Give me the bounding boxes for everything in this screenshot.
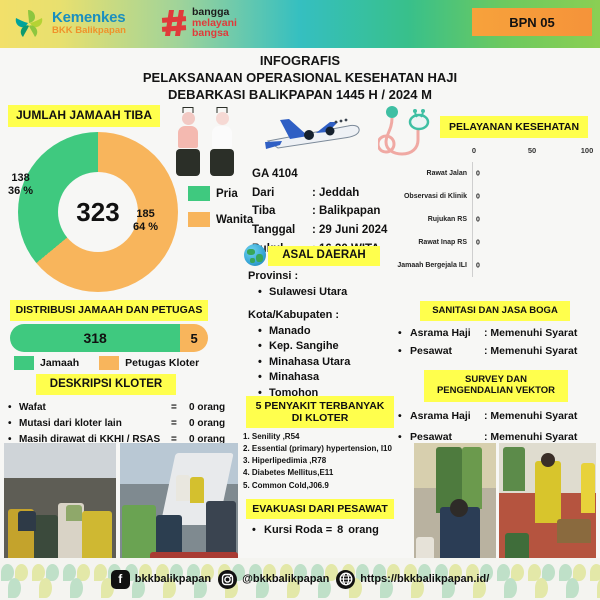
penyakit-heading-line1: 5 PENYAKIT TERBANYAK (256, 400, 385, 412)
list-item: 5. Common Cold,J06.9 (243, 480, 418, 492)
legend-swatch-jamaah (14, 356, 34, 370)
airplane-icon (256, 108, 364, 160)
bangga-line3: bangsa (192, 28, 237, 39)
globe-icon[interactable] (336, 570, 355, 589)
chart-plot-area: 0 (472, 208, 593, 231)
chart-row: Rawat Jalan 0 (388, 162, 593, 185)
survey-vektor-heading: SURVEY DAN PENGENDALIAN VEKTOR (424, 370, 568, 402)
page-title: INFOGRAFIS PELAKSANAAN OPERASIONAL KESEH… (0, 52, 600, 103)
website-url: https://bkkbalikpapan.id/ (360, 573, 489, 585)
photo-hall-interior (414, 443, 496, 561)
deskripsi-value-wafat: 0 orang (189, 400, 225, 416)
traveler-head (216, 112, 229, 125)
evakuasi-unit: orang (348, 524, 379, 536)
chart-category-rawat-inap-rs: Rawat Inap RS (388, 239, 472, 246)
list-item: 4. Diabetes Mellitus,E11 (243, 467, 418, 479)
survey-key-asrama: Asrama Haji (410, 406, 484, 427)
distribusi-jamaah-segment: 318 (10, 324, 180, 352)
provinsi-label: Provinsi : (248, 268, 350, 285)
photo-aircraft-stairs (120, 443, 238, 561)
list-item: Asrama Haji : Memenuhi Syarat (398, 325, 577, 343)
penyakit-heading-line2: DI KLOTER (292, 412, 349, 424)
pria-value: 138 (8, 172, 33, 185)
chart-category-rujukan-rs: Rujukan RS (388, 216, 472, 223)
chart-rows: Rawat Jalan 0 Observasi di Klinik 0 Ruju… (388, 162, 593, 277)
chart-plot-area: 0 (472, 162, 593, 185)
pelayanan-kesehatan-heading: PELAYANAN KESEHATAN (440, 116, 588, 138)
bullet-icon: • (8, 400, 19, 416)
list-item: 1. Senility ,R54 (243, 431, 418, 443)
sanitasi-value-pesawat: : Memenuhi Syarat (484, 343, 577, 361)
asal-daerah-content: Provinsi : Sulawesi Utara Kota/Kabupaten… (248, 268, 350, 417)
traveler-figure-1 (176, 112, 200, 176)
list-item: 3. Hiperlipedimia ,R78 (243, 455, 418, 467)
jumlah-jamaah-heading: JUMLAH JAMAAH TIBA (8, 105, 160, 127)
flight-value-tiba: : Balikpapan (312, 202, 380, 221)
deskripsi-kloter-heading: DESKRIPSI KLOTER (36, 374, 176, 395)
legend-label-petugas: Petugas Kloter (125, 357, 199, 369)
flight-info: GA 4104 Dari : Jeddah Tiba : Balikpapan … (252, 165, 387, 258)
kota-label: Kota/Kabupaten : (248, 307, 350, 324)
legend-swatch-petugas (99, 356, 119, 370)
bangga-wordmark: bangga melayani bangsa (192, 7, 237, 39)
flight-code-row: GA 4104 (252, 165, 387, 184)
chart-category-rawat-jalan: Rawat Jalan (388, 170, 472, 177)
list-item: 2. Essential (primary) hypertension, I10 (243, 443, 418, 455)
traveler-figure-2 (210, 112, 234, 176)
facebook-handle: bkkbalikpapan (135, 573, 211, 585)
bullet-icon: • (252, 524, 264, 536)
deskripsi-name-mutasi: Mutasi dari kloter lain (19, 416, 171, 432)
list-item: • Wafat = 0 orang (8, 400, 225, 416)
donut-legend: Pria Wanita (188, 186, 253, 238)
legend-item-wanita: Wanita (188, 212, 253, 227)
provinsi-list: Sulawesi Utara (258, 285, 350, 301)
chart-row: Jamaah Bergejala ILI 0 (388, 254, 593, 277)
list-item: • Mutasi dari kloter lain = 0 orang (8, 416, 225, 432)
chart-plot-area: 0 (472, 231, 593, 254)
footer-social-links: f bkkbalikpapan @bkkbalikpapan https://b… (0, 558, 600, 600)
wanita-percent: 64 % (133, 221, 158, 234)
evakuasi-heading: EVAKUASI DARI PESAWAT (246, 499, 394, 519)
sanitasi-content: Asrama Haji : Memenuhi Syarat Pesawat : … (398, 325, 577, 361)
instagram-icon[interactable] (218, 570, 237, 589)
penyakit-heading: 5 PENYAKIT TERBANYAK DI KLOTER (246, 396, 394, 428)
xtick-50: 50 (528, 146, 536, 155)
title-line-3: DEBARKASI BALIKPAPAN 1445 H / 2024 M (0, 86, 600, 103)
traveler-head (182, 112, 195, 125)
travelers-illustration (172, 104, 252, 176)
title-line-1: INFOGRAFIS (0, 52, 600, 69)
kemenkes-logo: Kemenkes BKK Balikpapan (12, 6, 126, 40)
list-item: Minahasa (258, 370, 350, 386)
flight-key-dari: Dari (252, 184, 312, 203)
flight-code: GA 4104 (252, 165, 312, 184)
flight-value-tanggal: : 29 Juni 2024 (312, 221, 387, 240)
chart-plot-area: 0 (472, 254, 593, 277)
kemenkes-title: Kemenkes (52, 10, 126, 26)
flight-code-badge: BPN 05 (472, 8, 592, 36)
list-item: Kep. Sangihe (258, 339, 350, 355)
globe-icon (244, 244, 266, 266)
instagram-handle: @bkkbalikpapan (242, 573, 329, 585)
kemenkes-wordmark: Kemenkes BKK Balikpapan (52, 10, 126, 36)
sanitasi-value-asrama: : Memenuhi Syarat (484, 325, 577, 343)
chart-x-axis: 0 50 100 (388, 146, 593, 160)
traveler-body (178, 126, 198, 148)
hashtag-icon (160, 8, 188, 38)
flight-row-tanggal: Tanggal : 29 Juni 2024 (252, 221, 387, 240)
photo-briefing-room (499, 443, 596, 561)
chart-value-rawat-inap-rs: 0 (476, 239, 480, 246)
sanitasi-key-pesawat: Pesawat (410, 343, 484, 361)
flight-row-tiba: Tiba : Balikpapan (252, 202, 387, 221)
sanitasi-heading: SANITASI DAN JASA BOGA (420, 301, 570, 321)
distribusi-heading: DISTRIBUSI JAMAAH DAN PETUGAS (10, 300, 208, 321)
penyakit-list: 1. Senility ,R54 2. Essential (primary) … (243, 431, 418, 492)
traveler-body (212, 126, 232, 148)
page-header: Kemenkes BKK Balikpapan bangga melayani … (0, 0, 600, 48)
asal-daerah-heading: ASAL DAERAH (268, 246, 380, 266)
xtick-100: 100 (581, 146, 594, 155)
chart-value-rujukan-rs: 0 (476, 216, 480, 223)
survey-vektor-content: Asrama Haji : Memenuhi Syarat Pesawat : … (398, 406, 577, 448)
chart-value-observasi-klinik: 0 (476, 193, 480, 200)
donut-label-pria: 138 36 % (8, 172, 33, 198)
legend-swatch-pria (188, 186, 210, 201)
chart-row: Rujukan RS 0 (388, 208, 593, 231)
flight-value-dari: : Jeddah (312, 184, 359, 203)
distribusi-legend: Jamaah Petugas Kloter (14, 356, 214, 370)
suitcase-icon (176, 149, 200, 176)
facebook-link[interactable]: f bkkbalikpapan (111, 570, 211, 589)
wanita-value: 185 (133, 208, 158, 221)
kemenkes-subtitle: BKK Balikpapan (52, 26, 126, 36)
chart-category-jamaah-bergejala-ili: Jamaah Bergejala ILI (388, 262, 472, 269)
evakuasi-value: 8 (337, 524, 343, 536)
pria-percent: 36 % (8, 185, 33, 198)
distribusi-petugas-segment: 5 (180, 324, 208, 352)
infographic-page: Kemenkes BKK Balikpapan bangga melayani … (0, 0, 600, 600)
evakuasi-label: Kursi Roda = (264, 524, 332, 536)
chart-plot-area: 0 (472, 185, 593, 208)
chart-value-jamaah-bergejala-ili: 0 (476, 262, 480, 269)
page-footer: f bkkbalikpapan @bkkbalikpapan https://b… (0, 558, 600, 600)
distribusi-bar-chart: 318 5 (10, 324, 208, 352)
evakuasi-content: • Kursi Roda = 8 orang (252, 524, 379, 536)
survey-heading-line2: PENGENDALIAN VEKTOR (437, 386, 555, 397)
chart-row: Rawat Inap RS 0 (388, 231, 593, 254)
donut-label-wanita: 185 64 % (133, 208, 158, 234)
chart-row: Observasi di Klinik 0 (388, 185, 593, 208)
survey-value-asrama: : Memenuhi Syarat (484, 406, 577, 427)
legend-swatch-wanita (188, 212, 210, 227)
chart-value-rawat-jalan: 0 (476, 170, 480, 177)
deskripsi-name-wafat: Wafat (19, 400, 171, 416)
pelayanan-kesehatan-chart: 0 50 100 Rawat Jalan 0 Observasi di Klin… (388, 146, 593, 286)
chart-category-observasi-klinik: Observasi di Klinik (388, 193, 472, 200)
legend-label-pria: Pria (216, 188, 238, 200)
title-line-2: PELAKSANAAN OPERASIONAL KESEHATAN HAJI (0, 69, 600, 86)
list-item: Asrama Haji : Memenuhi Syarat (398, 406, 577, 427)
list-item: Pesawat : Memenuhi Syarat (398, 343, 577, 361)
provinsi-value: Sulawesi Utara (258, 285, 350, 301)
legend-item-pria: Pria (188, 186, 253, 201)
deskripsi-eq: = (171, 400, 189, 416)
legend-label-wanita: Wanita (216, 214, 253, 226)
instagram-link[interactable]: @bkkbalikpapan (218, 570, 329, 589)
flight-row-dari: Dari : Jeddah (252, 184, 387, 203)
suitcase-icon (210, 149, 234, 176)
facebook-icon[interactable]: f (111, 570, 130, 589)
deskripsi-eq: = (171, 416, 189, 432)
bangga-melayani-bangsa-logo: bangga melayani bangsa (160, 7, 237, 39)
kemenkes-clover-icon (12, 6, 46, 40)
flight-key-tanggal: Tanggal (252, 221, 312, 240)
list-item: Minahasa Utara (258, 355, 350, 371)
bullet-icon: • (8, 416, 19, 432)
flight-key-tiba: Tiba (252, 202, 312, 221)
donut-center-total: 323 (58, 172, 138, 252)
website-link[interactable]: https://bkkbalikpapan.id/ (336, 570, 489, 589)
sanitasi-key-asrama: Asrama Haji (410, 325, 484, 343)
deskripsi-value-mutasi: 0 orang (189, 416, 225, 432)
deskripsi-kloter-content: • Wafat = 0 orang • Mutasi dari kloter l… (8, 400, 225, 449)
legend-label-jamaah: Jamaah (40, 357, 79, 369)
list-item: Manado (258, 324, 350, 340)
xtick-0: 0 (472, 146, 476, 155)
photo-pilgrims-arrival (4, 443, 116, 561)
